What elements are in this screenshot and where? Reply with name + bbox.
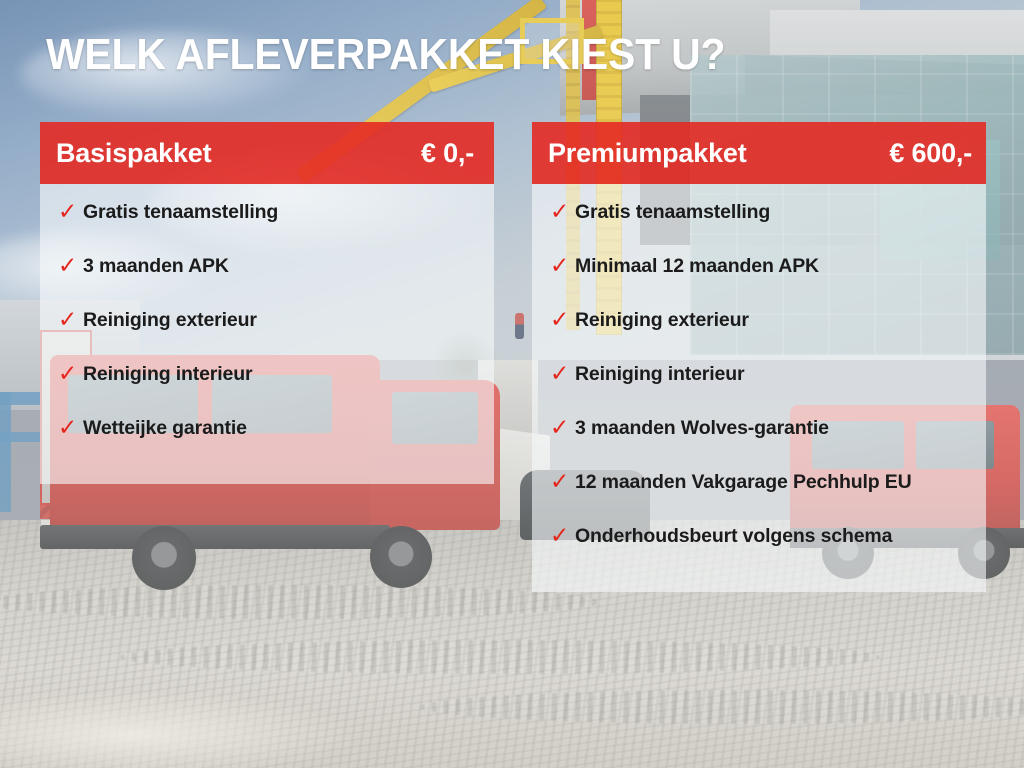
feature-item: ✓ Wetteijke garantie: [40, 414, 494, 468]
feature-label: Onderhoudsbeurt volgens schema: [575, 522, 892, 547]
check-icon: ✓: [58, 414, 83, 439]
check-icon: ✓: [58, 198, 83, 223]
feature-label: 12 maanden Vakgarage Pechhulp EU: [575, 468, 912, 493]
feature-label: 3 maanden APK: [83, 252, 229, 277]
feature-item: ✓ Reiniging exterieur: [532, 306, 986, 360]
feature-item: ✓ Onderhoudsbeurt volgens schema: [532, 522, 986, 576]
check-icon: ✓: [58, 360, 83, 385]
package-features-basis: ✓ Gratis tenaamstelling ✓ 3 maanden APK …: [40, 184, 494, 484]
feature-item: ✓ Reiniging interieur: [532, 360, 986, 414]
check-icon: ✓: [550, 306, 575, 331]
package-title-basis: Basispakket: [56, 138, 211, 169]
page-title: WELK AFLEVERPAKKET KIEST U?: [46, 33, 725, 77]
check-icon: ✓: [58, 252, 83, 277]
feature-label: Reiniging exterieur: [83, 306, 257, 331]
feature-label: Reiniging interieur: [575, 360, 744, 385]
slide-stage: WELK AFLEVERPAKKET KIEST U? Basispakket …: [0, 0, 1024, 768]
feature-label: Reiniging exterieur: [575, 306, 749, 331]
check-icon: ✓: [550, 360, 575, 385]
feature-item: ✓ Gratis tenaamstelling: [40, 198, 494, 252]
check-icon: ✓: [550, 198, 575, 223]
feature-item: ✓ Reiniging interieur: [40, 360, 494, 414]
feature-item: ✓ 12 maanden Vakgarage Pechhulp EU: [532, 468, 986, 522]
package-card-basis[interactable]: Basispakket € 0,- ✓ Gratis tenaamstellin…: [40, 122, 494, 484]
package-price-premium: € 600,-: [889, 138, 972, 169]
feature-item: ✓ Gratis tenaamstelling: [532, 198, 986, 252]
package-header-basis: Basispakket € 0,-: [40, 122, 494, 184]
feature-item: ✓ 3 maanden APK: [40, 252, 494, 306]
package-price-basis: € 0,-: [421, 138, 474, 169]
package-features-premium: ✓ Gratis tenaamstelling ✓ Minimaal 12 ma…: [532, 184, 986, 592]
check-icon: ✓: [550, 522, 575, 547]
package-title-premium: Premiumpakket: [548, 138, 747, 169]
feature-label: Wetteijke garantie: [83, 414, 247, 439]
check-icon: ✓: [550, 468, 575, 493]
check-icon: ✓: [58, 306, 83, 331]
feature-item: ✓ Minimaal 12 maanden APK: [532, 252, 986, 306]
feature-label: Gratis tenaamstelling: [575, 198, 770, 223]
feature-label: 3 maanden Wolves-garantie: [575, 414, 829, 439]
feature-item: ✓ Reiniging exterieur: [40, 306, 494, 360]
check-icon: ✓: [550, 414, 575, 439]
package-card-premium[interactable]: Premiumpakket € 600,- ✓ Gratis tenaamste…: [532, 122, 986, 592]
package-header-premium: Premiumpakket € 600,-: [532, 122, 986, 184]
feature-item: ✓ 3 maanden Wolves-garantie: [532, 414, 986, 468]
feature-label: Minimaal 12 maanden APK: [575, 252, 819, 277]
feature-label: Reiniging interieur: [83, 360, 252, 385]
feature-label: Gratis tenaamstelling: [83, 198, 278, 223]
check-icon: ✓: [550, 252, 575, 277]
